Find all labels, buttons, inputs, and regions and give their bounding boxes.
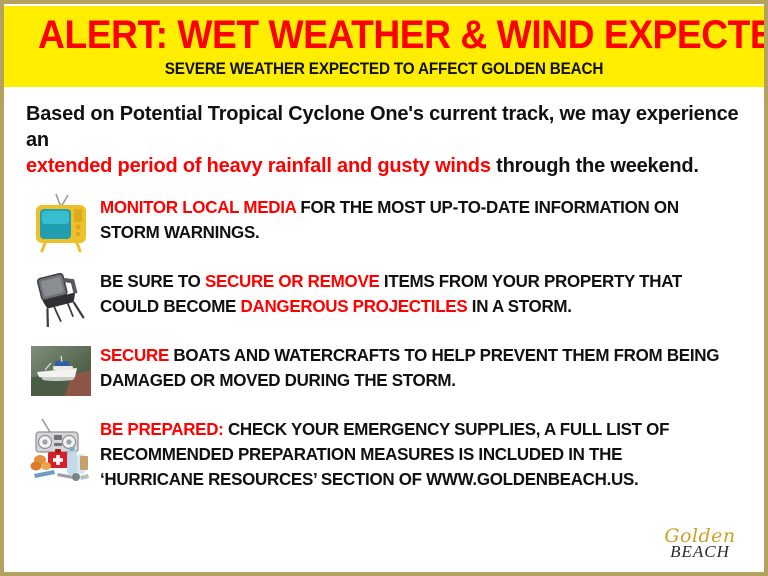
intro-line-1: Based on Potential Tropical Cyclone One'… — [26, 103, 738, 151]
list-item-text: MONITOR LOCAL MEDIA FOR THE MOST UP-TO-D… — [100, 191, 727, 245]
list-item-highlight-2: DANGEROUS PROJECTILES — [241, 296, 468, 316]
list-item-text: BE SURE TO SECURE OR REMOVE ITEMS FROM Y… — [100, 265, 727, 319]
list-item-highlight: SECURE — [100, 345, 169, 365]
preparedness-list: MONITOR LOCAL MEDIA FOR THE MOST UP-TO-D… — [4, 179, 764, 492]
intro-highlight: extended period of heavy rainfall and gu… — [26, 155, 491, 177]
intro-line-2-tail: through the weekend. — [491, 155, 699, 177]
list-item-highlight: MONITOR LOCAL MEDIA — [100, 197, 296, 217]
page-subtitle: SEVERE WEATHER EXPECTED TO AFFECT GOLDEN… — [49, 59, 719, 79]
alert-banner: ALERT: WET WEATHER & WIND EXPECTED SEVER… — [4, 6, 764, 87]
list-item-text: BE PREPARED: CHECK YOUR EMERGENCY SUPPLI… — [100, 413, 727, 492]
list-item-body: BOATS AND WATERCRAFTS TO HELP PREVENT TH… — [100, 345, 719, 390]
list-item: BE PREPARED: CHECK YOUR EMERGENCY SUPPLI… — [22, 413, 746, 492]
emergency-supply-kit-icon — [22, 413, 100, 489]
motorboat-photo-icon — [22, 339, 100, 403]
list-item: BE SURE TO SECURE OR REMOVE ITEMS FROM Y… — [22, 265, 746, 329]
list-item-body-2: IN A STORM. — [467, 296, 571, 316]
patio-chair-icon — [22, 265, 100, 329]
list-item-text: SECURE BOATS AND WATERCRAFTS TO HELP PRE… — [100, 339, 727, 393]
weather-alert-flyer: ALERT: WET WEATHER & WIND EXPECTED SEVER… — [0, 0, 768, 576]
list-item-highlight: BE PREPARED: — [100, 419, 224, 439]
list-item-highlight: SECURE OR REMOVE — [205, 271, 380, 291]
television-icon — [22, 191, 100, 255]
list-item: SECURE BOATS AND WATERCRAFTS TO HELP PRE… — [22, 339, 746, 403]
list-item-prefix: BE SURE TO — [100, 271, 205, 291]
intro-paragraph: Based on Potential Tropical Cyclone One'… — [4, 87, 764, 179]
list-item: MONITOR LOCAL MEDIA FOR THE MOST UP-TO-D… — [22, 191, 746, 255]
page-title: ALERT: WET WEATHER & WIND EXPECTED — [38, 12, 730, 58]
golden-beach-logo: Golden BEACH — [654, 527, 746, 560]
